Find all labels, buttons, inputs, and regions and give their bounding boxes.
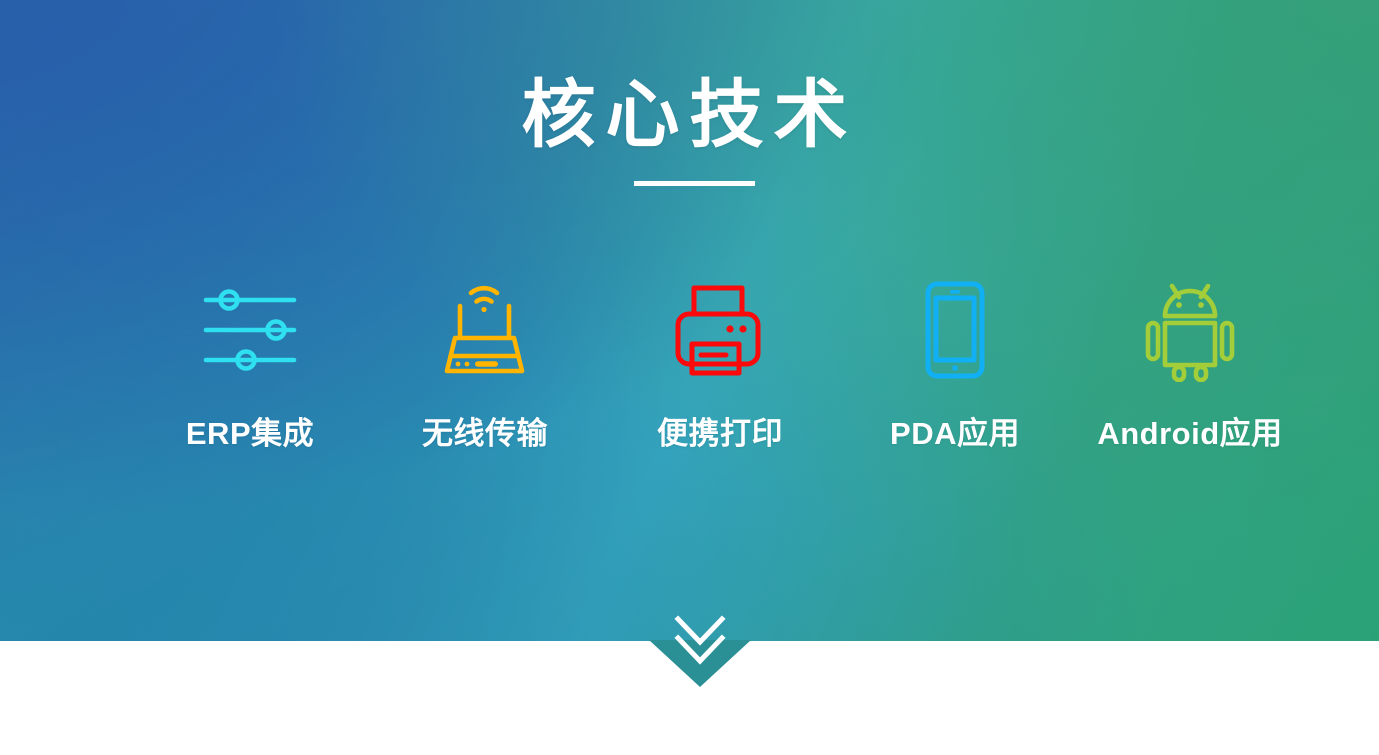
feature-item-wireless[interactable]: 无线传输 <box>375 278 595 453</box>
scroll-down-cue[interactable] <box>649 640 751 688</box>
android-robot-icon <box>1138 278 1242 382</box>
tablet-icon <box>903 278 1007 382</box>
feature-item-pda[interactable]: PDA应用 <box>845 278 1065 453</box>
feature-item-printing[interactable]: 便携打印 <box>610 278 830 453</box>
feature-label-android: Android应用 <box>1097 408 1282 453</box>
feature-label-pda: PDA应用 <box>890 408 1020 453</box>
double-chevron-down-icon <box>649 612 751 666</box>
sliders-icon <box>198 278 302 382</box>
page-title: 核心技术 <box>522 78 858 152</box>
feature-label-printing: 便携打印 <box>657 408 783 453</box>
title-underline-rule <box>634 181 755 186</box>
feature-item-android[interactable]: Android应用 <box>1080 278 1300 453</box>
feature-label-erp: ERP集成 <box>186 408 314 453</box>
feature-item-erp[interactable]: ERP集成 <box>140 278 360 453</box>
feature-list: ERP集成 <box>140 278 1300 453</box>
wireless-router-icon <box>433 278 537 382</box>
page-root: 核心技术 <box>0 0 1379 755</box>
feature-label-wireless: 无线传输 <box>422 408 548 453</box>
hero-banner: 核心技术 <box>0 0 1379 641</box>
page-title-wrapper: 核心技术 <box>0 78 1379 152</box>
printer-icon <box>668 278 772 382</box>
